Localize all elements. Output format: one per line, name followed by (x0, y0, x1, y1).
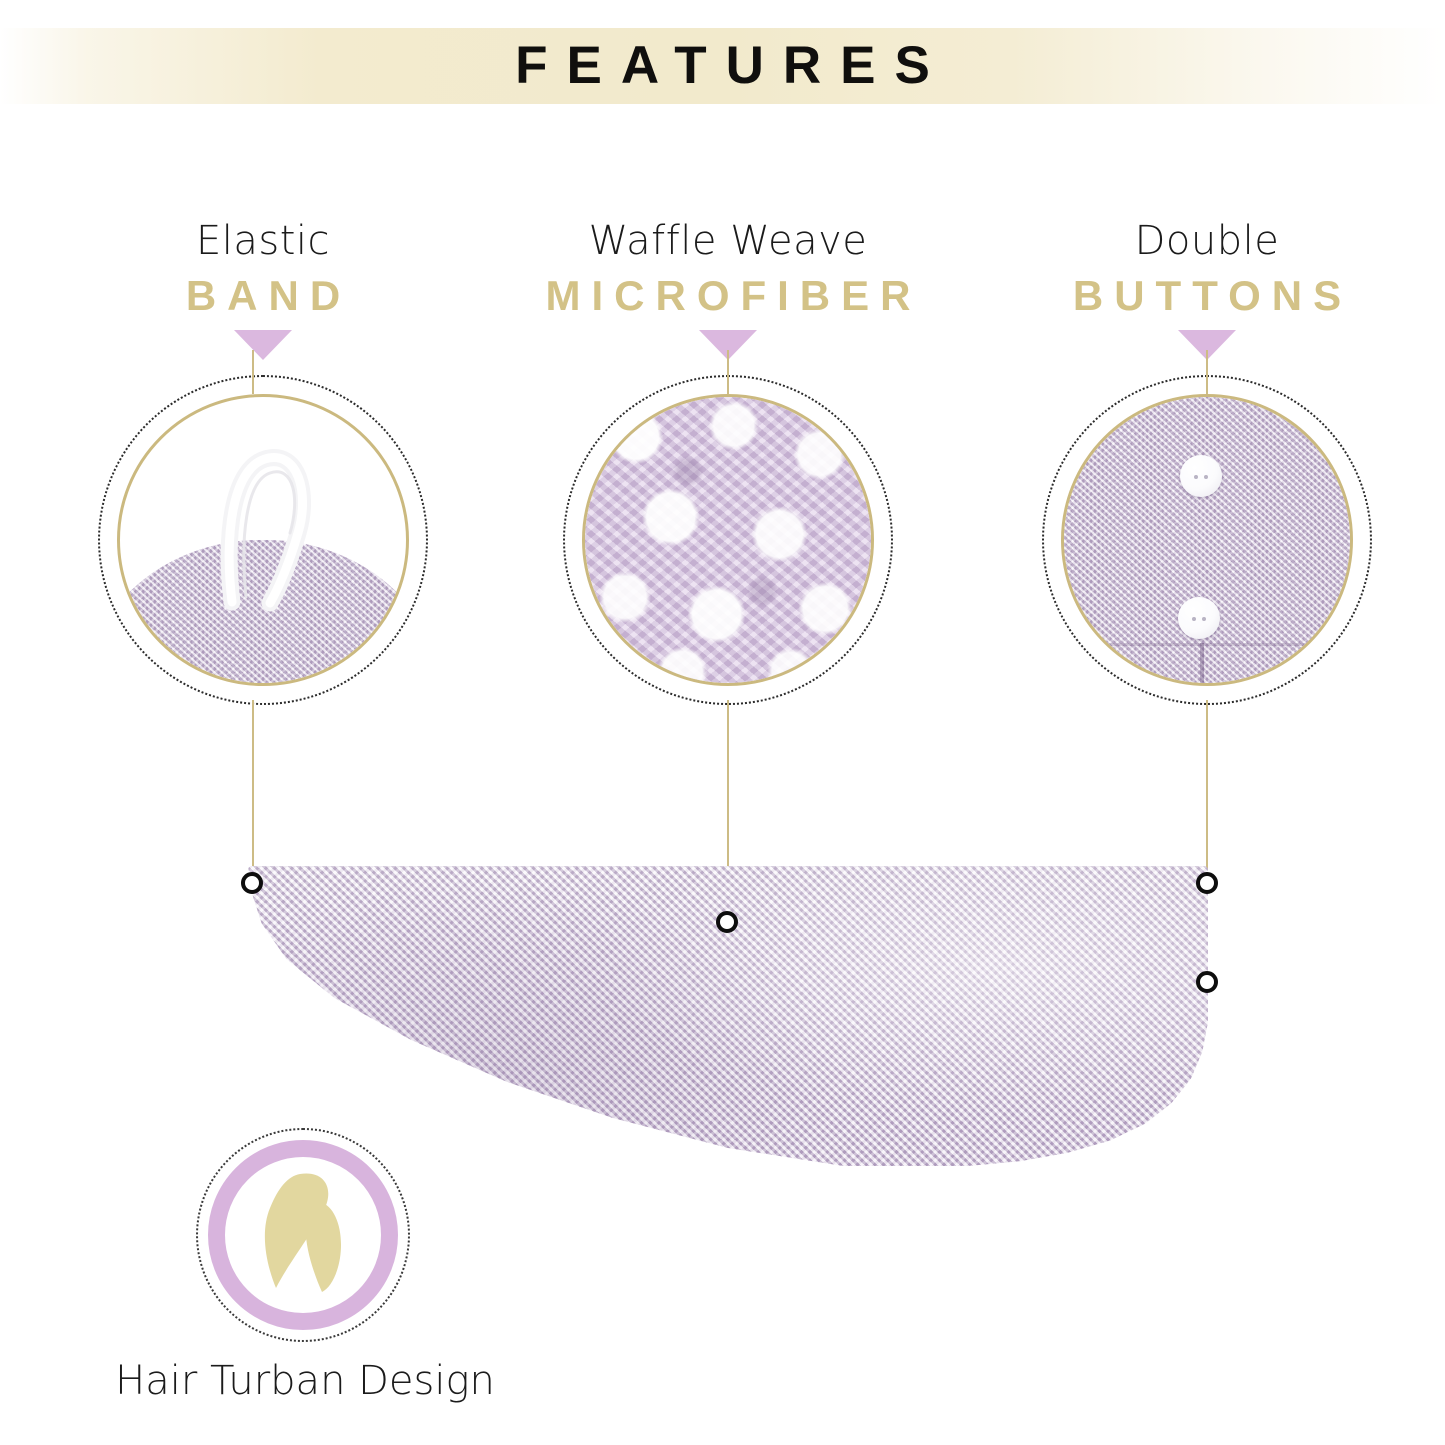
waffle-weave-texture-closeup-icon (585, 397, 871, 683)
seam-line (1098, 643, 1320, 646)
detail-circle-waffle-weave (582, 394, 874, 686)
feature-top-label: Double (957, 218, 1445, 264)
connector-line-top-2 (727, 350, 729, 394)
feature-label-waffle-weave-microfiber: Waffle Weave MICROFIBER (478, 218, 978, 360)
double-buttons-closeup-icon (1064, 397, 1350, 683)
button-lower (1178, 597, 1220, 639)
connector-line-top-1 (252, 350, 254, 394)
connector-line-top-3 (1206, 350, 1208, 394)
page-title: FEATURES (0, 30, 1445, 102)
hair-turban-design-badge (208, 1140, 398, 1330)
connector-line-elastic-band (252, 700, 254, 885)
feature-bottom-label: BAND (13, 272, 513, 320)
feature-bottom-label: BUTTONS (957, 272, 1445, 320)
lower-button-marker (1196, 971, 1218, 993)
fabric-texture (585, 397, 871, 683)
detail-circle-double-buttons (1061, 394, 1353, 686)
elastic-loop-svg (120, 397, 406, 683)
feature-label-elastic-band: Elastic BAND (13, 218, 513, 360)
button-upper (1180, 455, 1222, 497)
seam-line (1200, 643, 1204, 683)
feature-bottom-label: MICROFIBER (478, 272, 978, 320)
triangle-pointer-down-icon (234, 330, 292, 360)
badge-caption: Hair Turban Design (60, 1358, 550, 1404)
infographic-canvas: FEATURES Elastic BAND Waffle Weave MICRO… (0, 0, 1445, 1445)
turban-silhouette-icon (208, 1140, 398, 1330)
fabric-texture (1064, 397, 1350, 683)
feature-top-label: Elastic (13, 218, 513, 264)
feature-top-label: Waffle Weave (478, 218, 978, 264)
detail-circle-elastic-band (117, 394, 409, 686)
feature-label-double-buttons: Double BUTTONS (957, 218, 1445, 360)
elastic-loop-closeup-icon (120, 397, 406, 683)
waffle-weave-marker (716, 911, 738, 933)
elastic-band-marker (241, 872, 263, 894)
upper-button-marker (1196, 872, 1218, 894)
